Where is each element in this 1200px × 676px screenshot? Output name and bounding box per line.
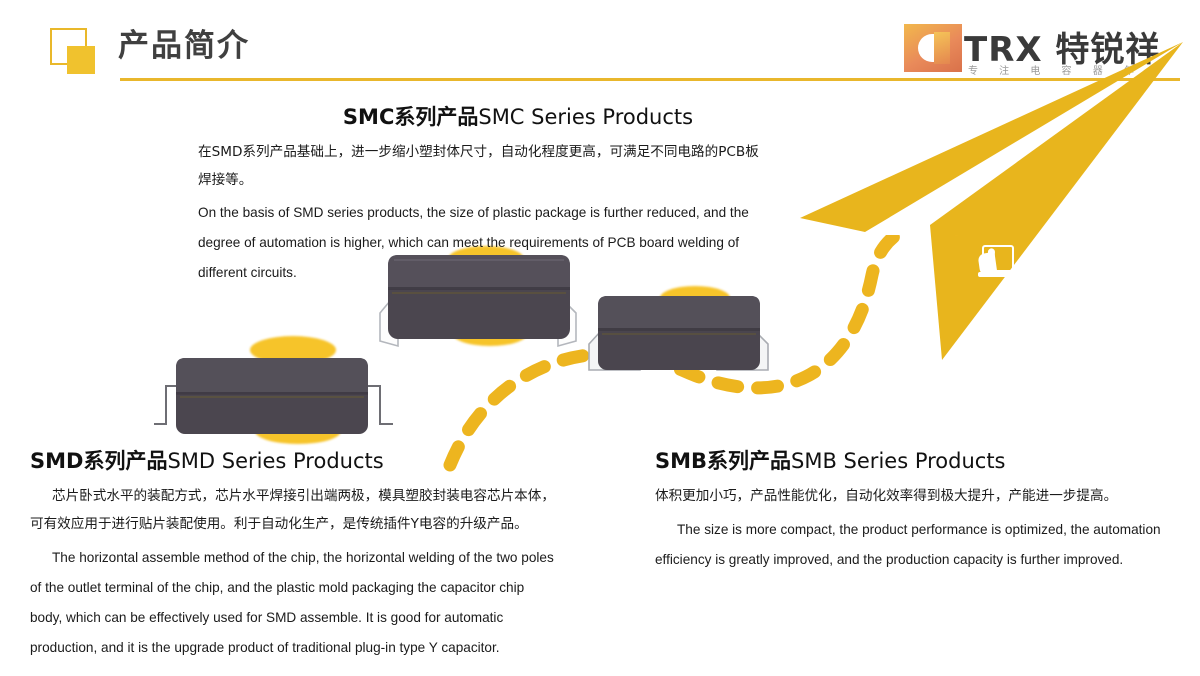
smb-body-cn-line-1: 体积更加小巧，产品性能优化，自动化效率得到极大提升，产能进一步提高。 bbox=[655, 482, 1180, 510]
section-smc: SMC系列产品SMC Series Products 在SMD系列产品基础上，进… bbox=[198, 104, 838, 288]
smc-body-cn-line-1: 在SMD系列产品基础上，进一步缩小塑封体尺寸，自动化程度更高，可满足不同电路的P… bbox=[198, 138, 834, 166]
smb-capacitor-chip bbox=[580, 288, 785, 386]
screen-base bbox=[978, 272, 1016, 277]
smc-body-cn-line-2: 焊接等。 bbox=[198, 166, 834, 194]
trx-c-mark-icon bbox=[904, 24, 962, 72]
smb-heading-cn: SMB系列产品 bbox=[655, 449, 791, 473]
smd-body-en-line-3: body, which can be effectively used for … bbox=[30, 603, 608, 633]
smd-body-cn-line-1: 芯片卧式水平的装配方式，芯片水平焊接引出端两极，模具塑胶封装电容芯片本体， bbox=[30, 482, 602, 510]
smd-capacitor-chip bbox=[150, 340, 400, 440]
smd-body-en-line-2: of the outlet terminal of the chip, and … bbox=[30, 573, 608, 603]
smc-body-en-line-2: degree of automation is higher, which ca… bbox=[198, 228, 808, 258]
smd-body-cn: 芯片卧式水平的装配方式，芯片水平焊接引出端两极，模具塑胶封装电容芯片本体， 可有… bbox=[30, 482, 602, 538]
smb-body-en: The size is more compact, the product pe… bbox=[655, 515, 1185, 575]
smd-heading-en: SMD Series Products bbox=[167, 449, 383, 473]
smd-body-en-line-1: The horizontal assemble method of the ch… bbox=[30, 543, 608, 573]
smc-heading-cn: SMC系列产品 bbox=[343, 105, 478, 129]
smd-heading: SMD系列产品SMD Series Products bbox=[30, 448, 610, 474]
c-mark-bar bbox=[934, 32, 950, 64]
screen-shape bbox=[982, 245, 1014, 272]
smc-body-cn: 在SMD系列产品基础上，进一步缩小塑封体尺寸，自动化程度更高，可满足不同电路的P… bbox=[198, 138, 834, 194]
hand-shape bbox=[978, 252, 998, 276]
smd-body-en-line-4: production, and it is the upgrade produc… bbox=[30, 633, 608, 663]
smb-body-cn: 体积更加小巧，产品性能优化，自动化效率得到极大提升，产能进一步提高。 bbox=[655, 482, 1180, 510]
slide-root: 产品简介 TRX 特锐祥 专 注 电 容 器 年 bbox=[0, 0, 1200, 676]
smb-heading-en: SMB Series Products bbox=[791, 449, 1005, 473]
smb-body-en-line-2: efficiency is greatly improved, and the … bbox=[655, 545, 1185, 575]
smd-body-en: The horizontal assemble method of the ch… bbox=[30, 543, 608, 663]
smd-body-cn-line-2: 可有效应用于进行贴片装配使用。利于自动化生产，是传统插件Y电容的升级产品。 bbox=[30, 510, 602, 538]
smc-body-en-line-3: different circuits. bbox=[198, 258, 808, 288]
smc-body-en: On the basis of SMD series products, the… bbox=[198, 198, 808, 288]
brand-tagline: 专 注 电 容 器 年 bbox=[968, 62, 1143, 77]
smc-body-en-line-1: On the basis of SMD series products, the… bbox=[198, 198, 808, 228]
smc-heading-en: SMC Series Products bbox=[478, 105, 693, 129]
logo-square-filled bbox=[67, 46, 95, 74]
smb-body-en-line-1: The size is more compact, the product pe… bbox=[655, 515, 1185, 545]
smd-heading-cn: SMD系列产品 bbox=[30, 449, 167, 473]
brand-logo: TRX 特锐祥 专 注 电 容 器 年 bbox=[904, 18, 1184, 80]
square-overlap-logo-icon bbox=[50, 28, 96, 74]
smc-heading: SMC系列产品SMC Series Products bbox=[198, 104, 838, 130]
page-title: 产品简介 bbox=[118, 24, 250, 68]
smb-heading: SMB系列产品SMB Series Products bbox=[655, 448, 1185, 474]
section-smd: SMD系列产品SMD Series Products 芯片卧式水平的装配方式，芯… bbox=[30, 448, 610, 663]
section-smb: SMB系列产品SMB Series Products 体积更加小巧，产品性能优化… bbox=[655, 448, 1185, 575]
hand-touch-screen-icon bbox=[978, 245, 1016, 279]
